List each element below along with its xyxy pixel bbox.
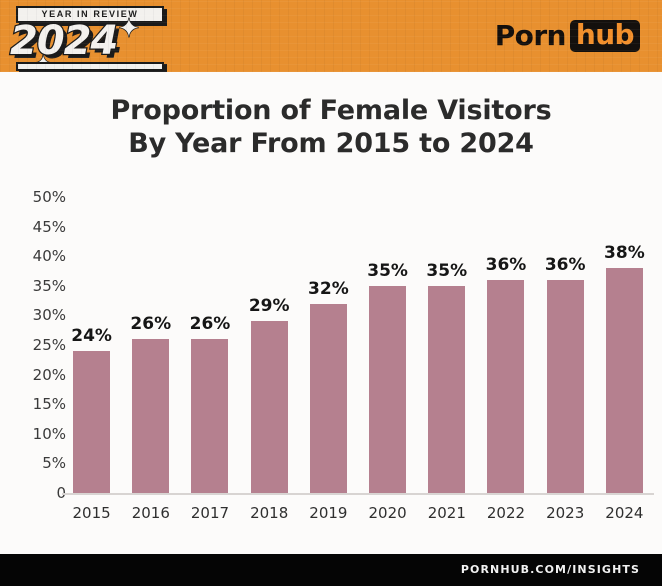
bar-item[interactable]: 35%2021 xyxy=(417,0,476,586)
y-axis: 50%45%40%35%30%25%20%15%10%5%0 xyxy=(20,0,66,586)
footer-url: PORNHUB.COM/INSIGHTS xyxy=(461,563,640,576)
bar-item[interactable]: 36%2023 xyxy=(536,0,595,586)
bar-item[interactable]: 29%2018 xyxy=(240,0,299,586)
bar-item[interactable]: 38%2024 xyxy=(595,0,654,586)
bar-rect[interactable] xyxy=(73,351,110,493)
x-axis-tick-label: 2019 xyxy=(299,504,358,522)
bar-item[interactable]: 36%2022 xyxy=(476,0,535,586)
bar-item[interactable]: 26%2016 xyxy=(121,0,180,586)
bar-rect[interactable] xyxy=(191,339,228,493)
bar-series: 24%201526%201626%201729%201832%201935%20… xyxy=(62,0,654,586)
bar-rect[interactable] xyxy=(251,321,288,493)
x-axis-tick-label: 2020 xyxy=(358,504,417,522)
bar-value-label: 35% xyxy=(417,261,476,281)
y-axis-tick-label: 40% xyxy=(20,247,66,265)
bar-rect[interactable] xyxy=(428,286,465,493)
bar-rect[interactable] xyxy=(606,268,643,493)
y-axis-tick-label: 50% xyxy=(20,188,66,206)
bar-rect[interactable] xyxy=(547,280,584,493)
y-axis-tick-label: 5% xyxy=(20,454,66,472)
bar-value-label: 38% xyxy=(595,243,654,263)
y-axis-tick-label: 45% xyxy=(20,218,66,236)
bar-value-label: 24% xyxy=(62,326,121,346)
y-axis-tick-label: 25% xyxy=(20,336,66,354)
y-axis-tick-label: 30% xyxy=(20,306,66,324)
x-axis-tick-label: 2024 xyxy=(595,504,654,522)
footer-band: PORNHUB.COM/INSIGHTS xyxy=(0,554,662,586)
bar-rect[interactable] xyxy=(487,280,524,493)
y-axis-tick-label: 15% xyxy=(20,395,66,413)
bar-value-label: 26% xyxy=(180,314,239,334)
x-axis-tick-label: 2023 xyxy=(536,504,595,522)
x-axis-tick-label: 2016 xyxy=(121,504,180,522)
bar-rect[interactable] xyxy=(310,304,347,493)
bar-rect[interactable] xyxy=(132,339,169,493)
y-axis-tick-label: 10% xyxy=(20,425,66,443)
x-axis-tick-label: 2015 xyxy=(62,504,121,522)
x-axis-tick-label: 2017 xyxy=(180,504,239,522)
bar-item[interactable]: 26%2017 xyxy=(180,0,239,586)
x-axis-tick-label: 2022 xyxy=(476,504,535,522)
bar-value-label: 29% xyxy=(240,296,299,316)
bar-item[interactable]: 24%2015 xyxy=(62,0,121,586)
bar-chart: 50%45%40%35%30%25%20%15%10%5%0 24%201526… xyxy=(0,0,662,586)
bar-value-label: 36% xyxy=(476,255,535,275)
y-axis-tick-label: 0 xyxy=(20,484,66,502)
bar-value-label: 26% xyxy=(121,314,180,334)
bar-value-label: 32% xyxy=(299,279,358,299)
bar-value-label: 36% xyxy=(536,255,595,275)
x-axis-tick-label: 2021 xyxy=(417,504,476,522)
bar-item[interactable]: 32%2019 xyxy=(299,0,358,586)
y-axis-tick-label: 35% xyxy=(20,277,66,295)
bar-value-label: 35% xyxy=(358,261,417,281)
bar-item[interactable]: 35%2020 xyxy=(358,0,417,586)
y-axis-tick-label: 20% xyxy=(20,366,66,384)
bar-rect[interactable] xyxy=(369,286,406,493)
x-axis-tick-label: 2018 xyxy=(240,504,299,522)
